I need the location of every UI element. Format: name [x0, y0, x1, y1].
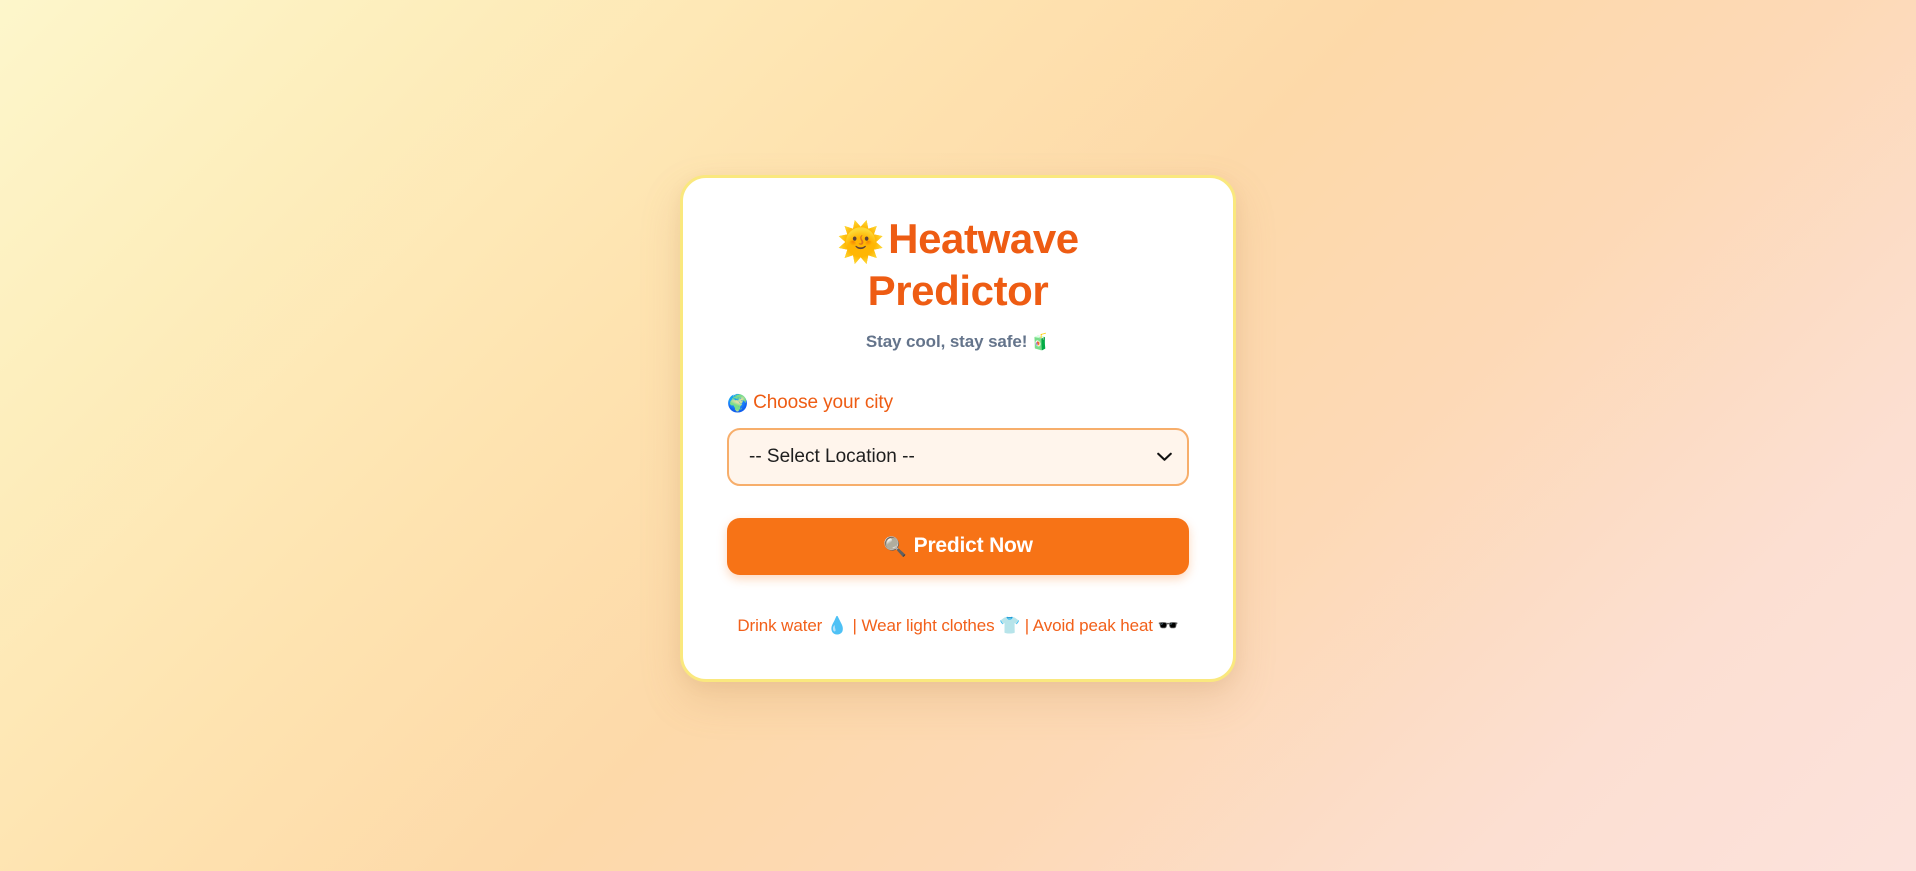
city-select-wrapper: -- Select Location --	[727, 428, 1189, 486]
city-select-label: 🌍Choose your city	[727, 392, 1189, 414]
city-select[interactable]: -- Select Location --	[727, 428, 1189, 486]
page-title: 🌞Heatwave Predictor	[727, 214, 1189, 315]
app-subtitle: Stay cool, stay safe!🧃	[727, 332, 1189, 352]
safety-tips-text: Drink water 💧 | Wear light clothes 👕 | A…	[737, 616, 1178, 635]
page-title-text: Heatwave Predictor	[868, 215, 1079, 314]
app-subtitle-text: Stay cool, stay safe!	[866, 332, 1027, 351]
card-header: 🌞Heatwave Predictor Stay cool, stay safe…	[727, 214, 1189, 351]
city-select-label-text: Choose your city	[753, 392, 893, 413]
magnifier-icon: 🔍	[883, 537, 906, 558]
prediction-form: 🌍Choose your city -- Select Location -- …	[727, 392, 1189, 575]
page-root: 🌞Heatwave Predictor Stay cool, stay safe…	[680, 189, 1236, 682]
predict-now-button[interactable]: 🔍Predict Now	[727, 518, 1189, 575]
predict-now-button-label: Predict Now	[914, 534, 1033, 557]
juice-box-icon: 🧃	[1030, 334, 1050, 351]
sun-icon: 🌞	[837, 222, 884, 264]
heatwave-predictor-card: 🌞Heatwave Predictor Stay cool, stay safe…	[680, 175, 1236, 682]
globe-icon: 🌍	[727, 394, 748, 413]
safety-tips-footer: Drink water 💧 | Wear light clothes 👕 | A…	[727, 613, 1189, 639]
